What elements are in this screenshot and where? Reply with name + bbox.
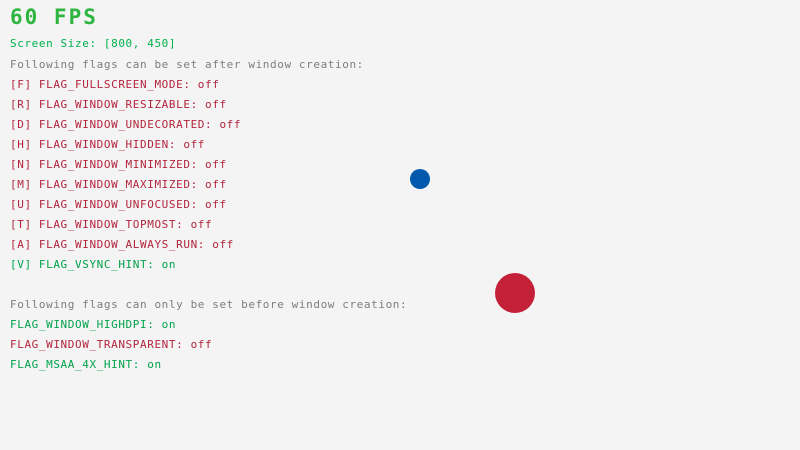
flag-row-flag-window-always-run[interactable]: [A] FLAG_WINDOW_ALWAYS_RUN: off [10, 239, 234, 251]
flag-row-flag-window-maximized[interactable]: [M] FLAG_WINDOW_MAXIMIZED: off [10, 179, 227, 191]
screen-size-label: Screen Size: [800, 450] [10, 38, 176, 50]
flag-row-flag-window-highdpi[interactable]: FLAG_WINDOW_HIGHDPI: on [10, 319, 176, 331]
blue-ball-shape [410, 169, 430, 189]
section-header-before-creation: Following flags can only be set before w… [10, 299, 407, 311]
flag-row-flag-window-transparent[interactable]: FLAG_WINDOW_TRANSPARENT: off [10, 339, 212, 351]
flag-row-flag-window-minimized[interactable]: [N] FLAG_WINDOW_MINIMIZED: off [10, 159, 227, 171]
raylib-window-canvas[interactable]: 60 FPS Screen Size: [800, 450] Following… [0, 0, 800, 450]
flag-row-flag-msaa-4x-hint[interactable]: FLAG_MSAA_4X_HINT: on [10, 359, 162, 371]
flag-row-flag-window-undecorated[interactable]: [D] FLAG_WINDOW_UNDECORATED: off [10, 119, 241, 131]
flag-row-flag-window-unfocused[interactable]: [U] FLAG_WINDOW_UNFOCUSED: off [10, 199, 227, 211]
flag-row-flag-vsync-hint[interactable]: [V] FLAG_VSYNC_HINT: on [10, 259, 176, 271]
flag-row-flag-window-resizable[interactable]: [R] FLAG_WINDOW_RESIZABLE: off [10, 99, 227, 111]
fps-counter: 60 FPS [10, 6, 98, 28]
red-ball-shape [495, 273, 535, 313]
flag-row-flag-fullscreen-mode[interactable]: [F] FLAG_FULLSCREEN_MODE: off [10, 79, 219, 91]
flag-row-flag-window-topmost[interactable]: [T] FLAG_WINDOW_TOPMOST: off [10, 219, 212, 231]
section-header-after-creation: Following flags can be set after window … [10, 59, 364, 71]
flag-row-flag-window-hidden[interactable]: [H] FLAG_WINDOW_HIDDEN: off [10, 139, 205, 151]
